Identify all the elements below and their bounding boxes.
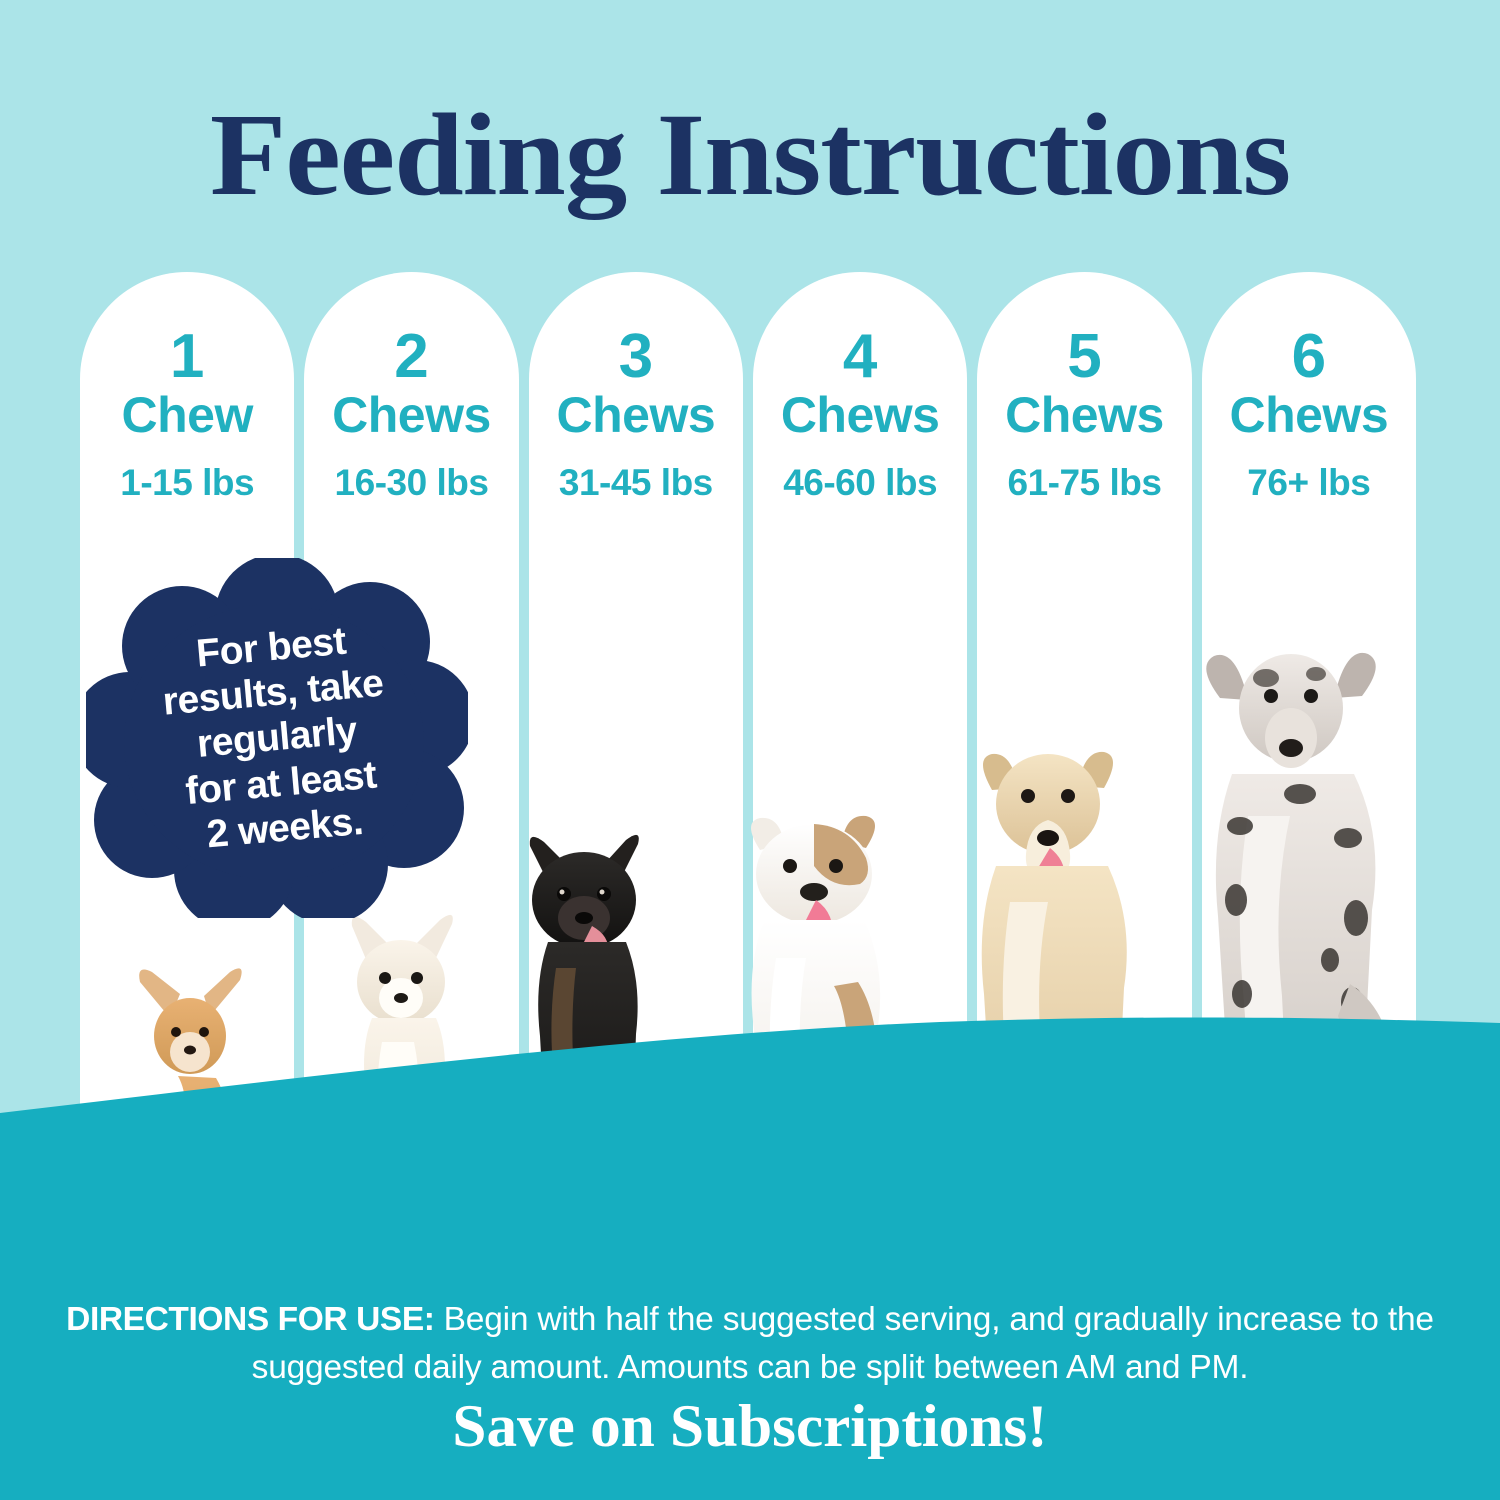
dosage-unit: Chews [529, 389, 743, 442]
best-results-badge: For best results, take regularly for at … [86, 558, 468, 918]
dosage-weight: 46-60 lbs [753, 463, 967, 504]
dosage-weight: 31-45 lbs [529, 463, 743, 504]
dosage-unit: Chews [753, 389, 967, 442]
dosage-qty: 4 [753, 328, 967, 387]
page-title: Feeding Instructions [0, 96, 1500, 214]
dog-golden-retriever [982, 752, 1134, 1186]
dosage-unit: Chew [80, 389, 294, 442]
badge-line-4-plain: for [184, 765, 248, 813]
dosage-weight: 61-75 lbs [977, 463, 1191, 504]
dog-black-tan-pug [530, 835, 639, 1170]
dog-chihuahua [139, 968, 246, 1228]
dosage-qty: 3 [529, 328, 743, 387]
directions-for-use: DIRECTIONS FOR USE: Begin with half the … [60, 1296, 1440, 1393]
dosage-qty: 2 [304, 328, 518, 387]
dosage-qty: 6 [1202, 328, 1416, 387]
infographic-root: Feeding Instructions 1 Chew 1-15 lbs 2 C… [0, 0, 1500, 1500]
dosage-weight: 76+ lbs [1202, 463, 1416, 504]
dog-great-dane [1206, 653, 1459, 1138]
dog-bulldog [751, 816, 880, 1180]
dosage-weight: 16-30 lbs [304, 463, 518, 504]
dosage-unit: Chews [304, 389, 518, 442]
dosage-unit: Chews [1202, 389, 1416, 442]
dog-pomeranian [352, 915, 453, 1198]
dosage-qty: 1 [80, 328, 294, 387]
subscription-tagline: Save on Subscriptions! [0, 1392, 1500, 1461]
dosage-qty: 5 [977, 328, 1191, 387]
directions-label: DIRECTIONS FOR USE: [66, 1301, 434, 1338]
dosage-unit: Chews [977, 389, 1191, 442]
badge-text: For best results, take regularly for at … [71, 542, 483, 934]
dosage-weight: 1-15 lbs [80, 463, 294, 504]
